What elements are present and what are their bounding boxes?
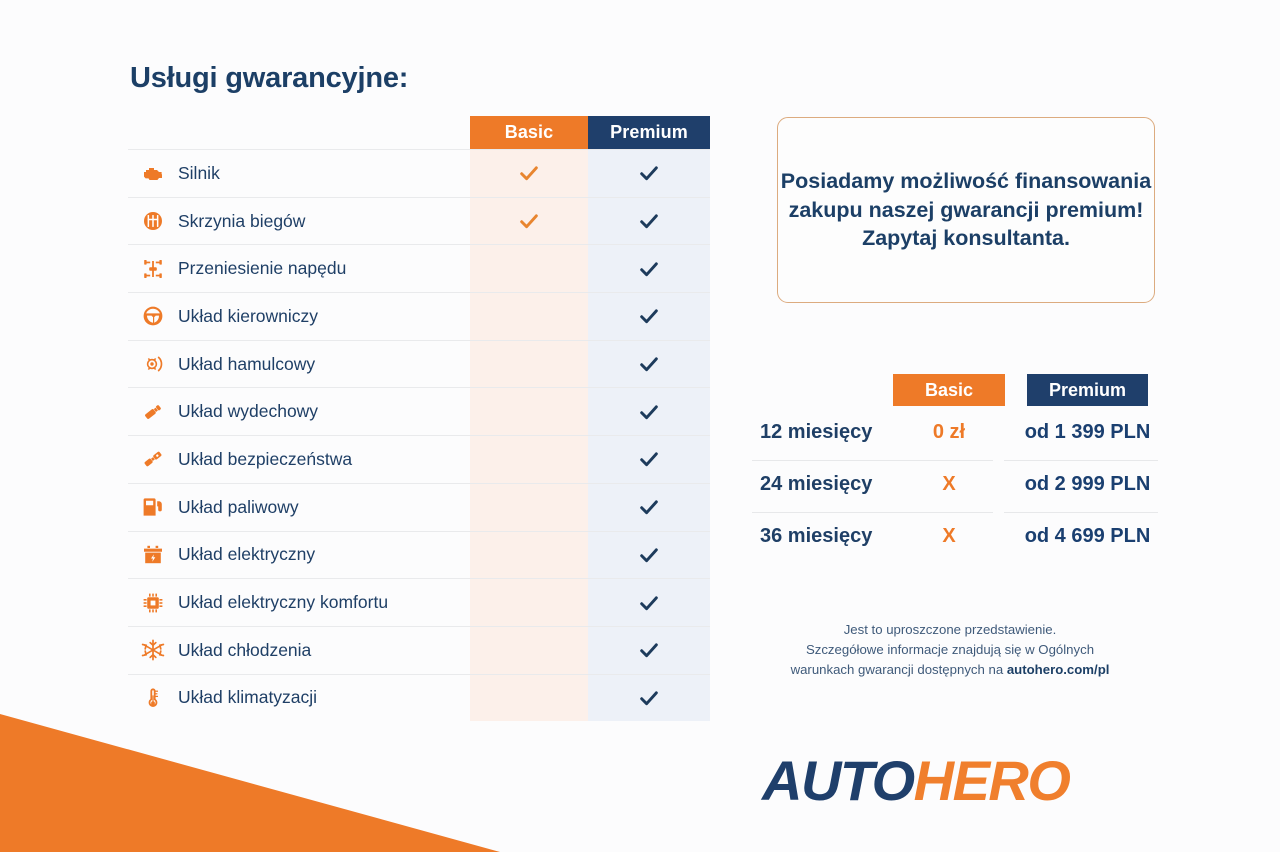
price-row-premium: od 1 399 PLN [1022,421,1153,444]
comparison-row-label: Układ chłodzenia [178,640,470,661]
column-header-basic: Basic [470,116,588,149]
premium-availability-cell [588,162,710,184]
comparison-row-label: Układ bezpieczeństwa [178,449,470,470]
premium-availability-cell [588,639,710,661]
engine-icon [128,161,178,185]
price-row-premium: od 4 699 PLN [1022,525,1153,548]
price-row-basic: 0 zł [893,421,1005,444]
price-row-premium: od 2 999 PLN [1022,473,1153,496]
comparison-table-body: SilnikSkrzynia biegówPrzeniesienie napęd… [128,149,710,721]
price-header-premium: Premium [1027,374,1148,406]
comparison-row-label: Układ kierowniczy [178,306,470,327]
comparison-row: Układ bezpieczeństwa [128,435,710,483]
comparison-row: Skrzynia biegów [128,197,710,245]
comparison-row: Układ hamulcowy [128,340,710,388]
fineprint-disclaimer: Jest to uproszczone przedstawienie. Szcz… [740,620,1160,680]
column-header-premium: Premium [588,116,710,149]
comparison-table-header: Basic Premium [128,116,710,149]
premium-availability-cell [588,544,710,566]
comparison-row-label: Układ klimatyzacji [178,687,470,708]
price-table-rows: 12 miesięcy0 złod 1 399 PLN24 miesięcyXo… [752,408,1158,564]
drivetrain-axle-icon [128,257,178,281]
price-row-term: 36 miesięcy [760,525,872,548]
financing-callout-box: Posiadamy możliwość finansowania zakupu … [777,117,1155,303]
snowflake-icon [128,638,178,662]
comparison-row: Układ paliwowy [128,483,710,531]
seatbelt-icon [128,447,178,471]
premium-availability-cell [588,401,710,423]
price-row-term: 12 miesięcy [760,421,872,444]
comparison-row: Układ chłodzenia [128,626,710,674]
price-header-basic: Basic [893,374,1005,406]
battery-icon [128,543,178,567]
basic-availability-cell [470,162,588,184]
logo-text-hero: HERO [914,749,1070,812]
comparison-row-label: Przeniesienie napędu [178,258,470,279]
microchip-icon [128,591,178,615]
premium-availability-cell [588,353,710,375]
autohero-logo: AUTOHERO [762,748,1069,813]
thermometer-icon [128,686,178,710]
premium-availability-cell [588,687,710,709]
brake-disc-icon [128,352,178,376]
comparison-row: Układ kierowniczy [128,292,710,340]
warranty-comparison-table: Basic Premium SilnikSkrzynia biegówPrzen… [128,116,710,721]
comparison-row: Układ klimatyzacji [128,674,710,722]
fuel-pump-icon [128,495,178,519]
steering-wheel-icon [128,304,178,328]
fineprint-line-1: Jest to uproszczone przedstawienie. [740,620,1160,640]
price-row-basic: X [893,473,1005,496]
comparison-row: Silnik [128,149,710,197]
page-title: Usługi gwarancyjne: [130,62,408,95]
fineprint-line-3: warunkach gwarancji dostępnych na autohe… [740,660,1160,680]
comparison-row: Układ elektryczny [128,531,710,579]
comparison-row-label: Silnik [178,163,470,184]
comparison-row-label: Układ wydechowy [178,401,470,422]
premium-availability-cell [588,592,710,614]
comparison-row-label: Skrzynia biegów [178,211,470,232]
header-spacer [128,116,470,149]
fineprint-line-3-prefix: warunkach gwarancji dostępnych na [791,662,1007,677]
comparison-row-label: Układ elektryczny komfortu [178,592,470,613]
premium-availability-cell [588,448,710,470]
basic-availability-cell [470,210,588,232]
comparison-row: Przeniesienie napędu [128,244,710,292]
price-row: 36 miesięcyXod 4 699 PLN [752,512,1158,564]
price-table-header: Basic Premium [752,372,1158,408]
premium-availability-cell [588,210,710,232]
comparison-row-label: Układ hamulcowy [178,354,470,375]
price-row: 24 miesięcyXod 2 999 PLN [752,460,1158,512]
premium-availability-cell [588,496,710,518]
autohero-website-link[interactable]: autohero.com/pl [1007,662,1110,677]
fineprint-line-2: Szczegółowe informacje znajdują się w Og… [740,640,1160,660]
comparison-row: Układ wydechowy [128,387,710,435]
exhaust-pipe-icon [128,400,178,424]
premium-availability-cell [588,258,710,280]
comparison-row-label: Układ paliwowy [178,497,470,518]
price-table: Basic Premium 12 miesięcy0 złod 1 399 PL… [752,372,1158,564]
comparison-row-label: Układ elektryczny [178,544,470,565]
infographic-canvas: Usługi gwarancyjne: Basic Premium Silnik… [0,0,1280,852]
premium-availability-cell [588,305,710,327]
logo-text-auto: AUTO [762,749,914,812]
price-row-term: 24 miesięcy [760,473,872,496]
comparison-row: Układ elektryczny komfortu [128,578,710,626]
price-row-basic: X [893,525,1005,548]
gearbox-icon [128,209,178,233]
price-row: 12 miesięcy0 złod 1 399 PLN [752,408,1158,460]
financing-callout-text: Posiadamy możliwość finansowania zakupu … [778,167,1154,253]
